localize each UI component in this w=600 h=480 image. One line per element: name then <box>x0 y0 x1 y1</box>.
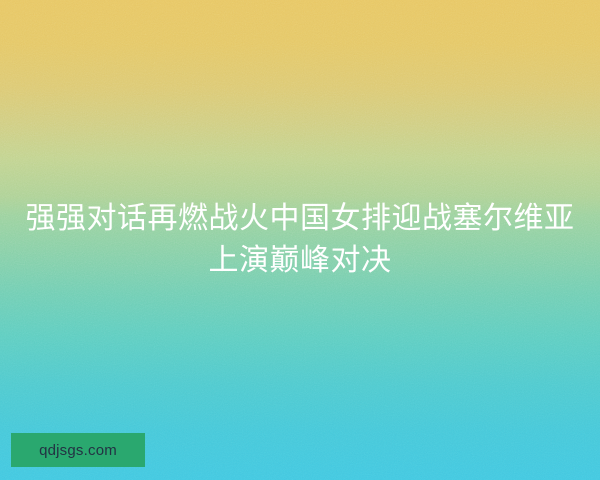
poster-canvas: 强强对话再燃战火中国女排迎战塞尔维亚 上演巅峰对决 qdjsgs.com <box>0 0 600 480</box>
site-watermark-badge: qdjsgs.com <box>11 433 145 467</box>
headline-text: 强强对话再燃战火中国女排迎战塞尔维亚 上演巅峰对决 <box>0 198 600 282</box>
headline-line-1: 强强对话再燃战火中国女排迎战塞尔维亚 <box>14 198 586 240</box>
watermark-domain-label: qdjsgs.com <box>39 443 117 458</box>
headline-line-2: 上演巅峰对决 <box>14 240 586 282</box>
